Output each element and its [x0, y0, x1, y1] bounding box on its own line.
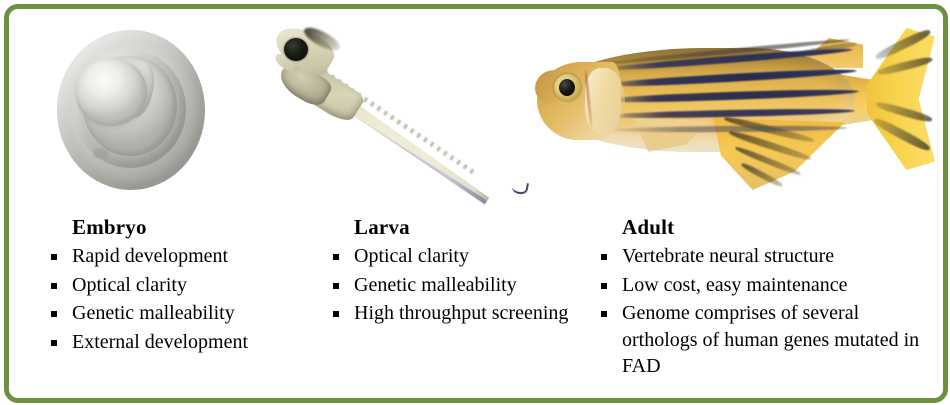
- adult-image: [537, 22, 935, 194]
- embryo-speck: [93, 148, 109, 159]
- list-item: Optical clarity: [48, 272, 328, 299]
- bullet-list-larva: Optical clarity Genetic malleability Hig…: [330, 243, 600, 327]
- column-embryo: Embryo Rapid development Optical clarity…: [48, 215, 328, 357]
- column-larva: Larva Optical clarity Genetic malleabili…: [330, 215, 600, 329]
- list-item: Genetic malleability: [330, 272, 600, 299]
- list-item: Vertebrate neural structure: [598, 243, 928, 270]
- images-panel: [0, 0, 950, 215]
- text-panel: Embryo Rapid development Optical clarity…: [0, 215, 950, 405]
- zebrafish-lifecycle-figure: Embryo Rapid development Optical clarity…: [0, 0, 950, 405]
- list-item: High throughput screening: [330, 300, 600, 327]
- column-title-adult: Adult: [622, 215, 928, 240]
- larva-image: [272, 24, 534, 200]
- list-item: Rapid development: [48, 243, 328, 270]
- column-adult: Adult Vertebrate neural structure Low co…: [598, 215, 928, 382]
- larva-eye: [284, 38, 308, 61]
- larva-tail-tip: [511, 181, 529, 196]
- column-title-larva: Larva: [354, 215, 600, 240]
- list-item: Genome comprises of several orthologs of…: [598, 300, 928, 380]
- column-title-embryo: Embryo: [72, 215, 328, 240]
- embryo-image: [57, 30, 205, 190]
- bullet-list-embryo: Rapid development Optical clarity Geneti…: [48, 243, 328, 355]
- fish-pupil: [559, 79, 575, 96]
- list-item: Low cost, easy maintenance: [598, 272, 928, 299]
- list-item: Optical clarity: [330, 243, 600, 270]
- bullet-list-adult: Vertebrate neural structure Low cost, ea…: [598, 243, 928, 380]
- list-item: External development: [48, 329, 328, 356]
- embryo-yolk-sac: [75, 58, 147, 126]
- list-item: Genetic malleability: [48, 300, 328, 327]
